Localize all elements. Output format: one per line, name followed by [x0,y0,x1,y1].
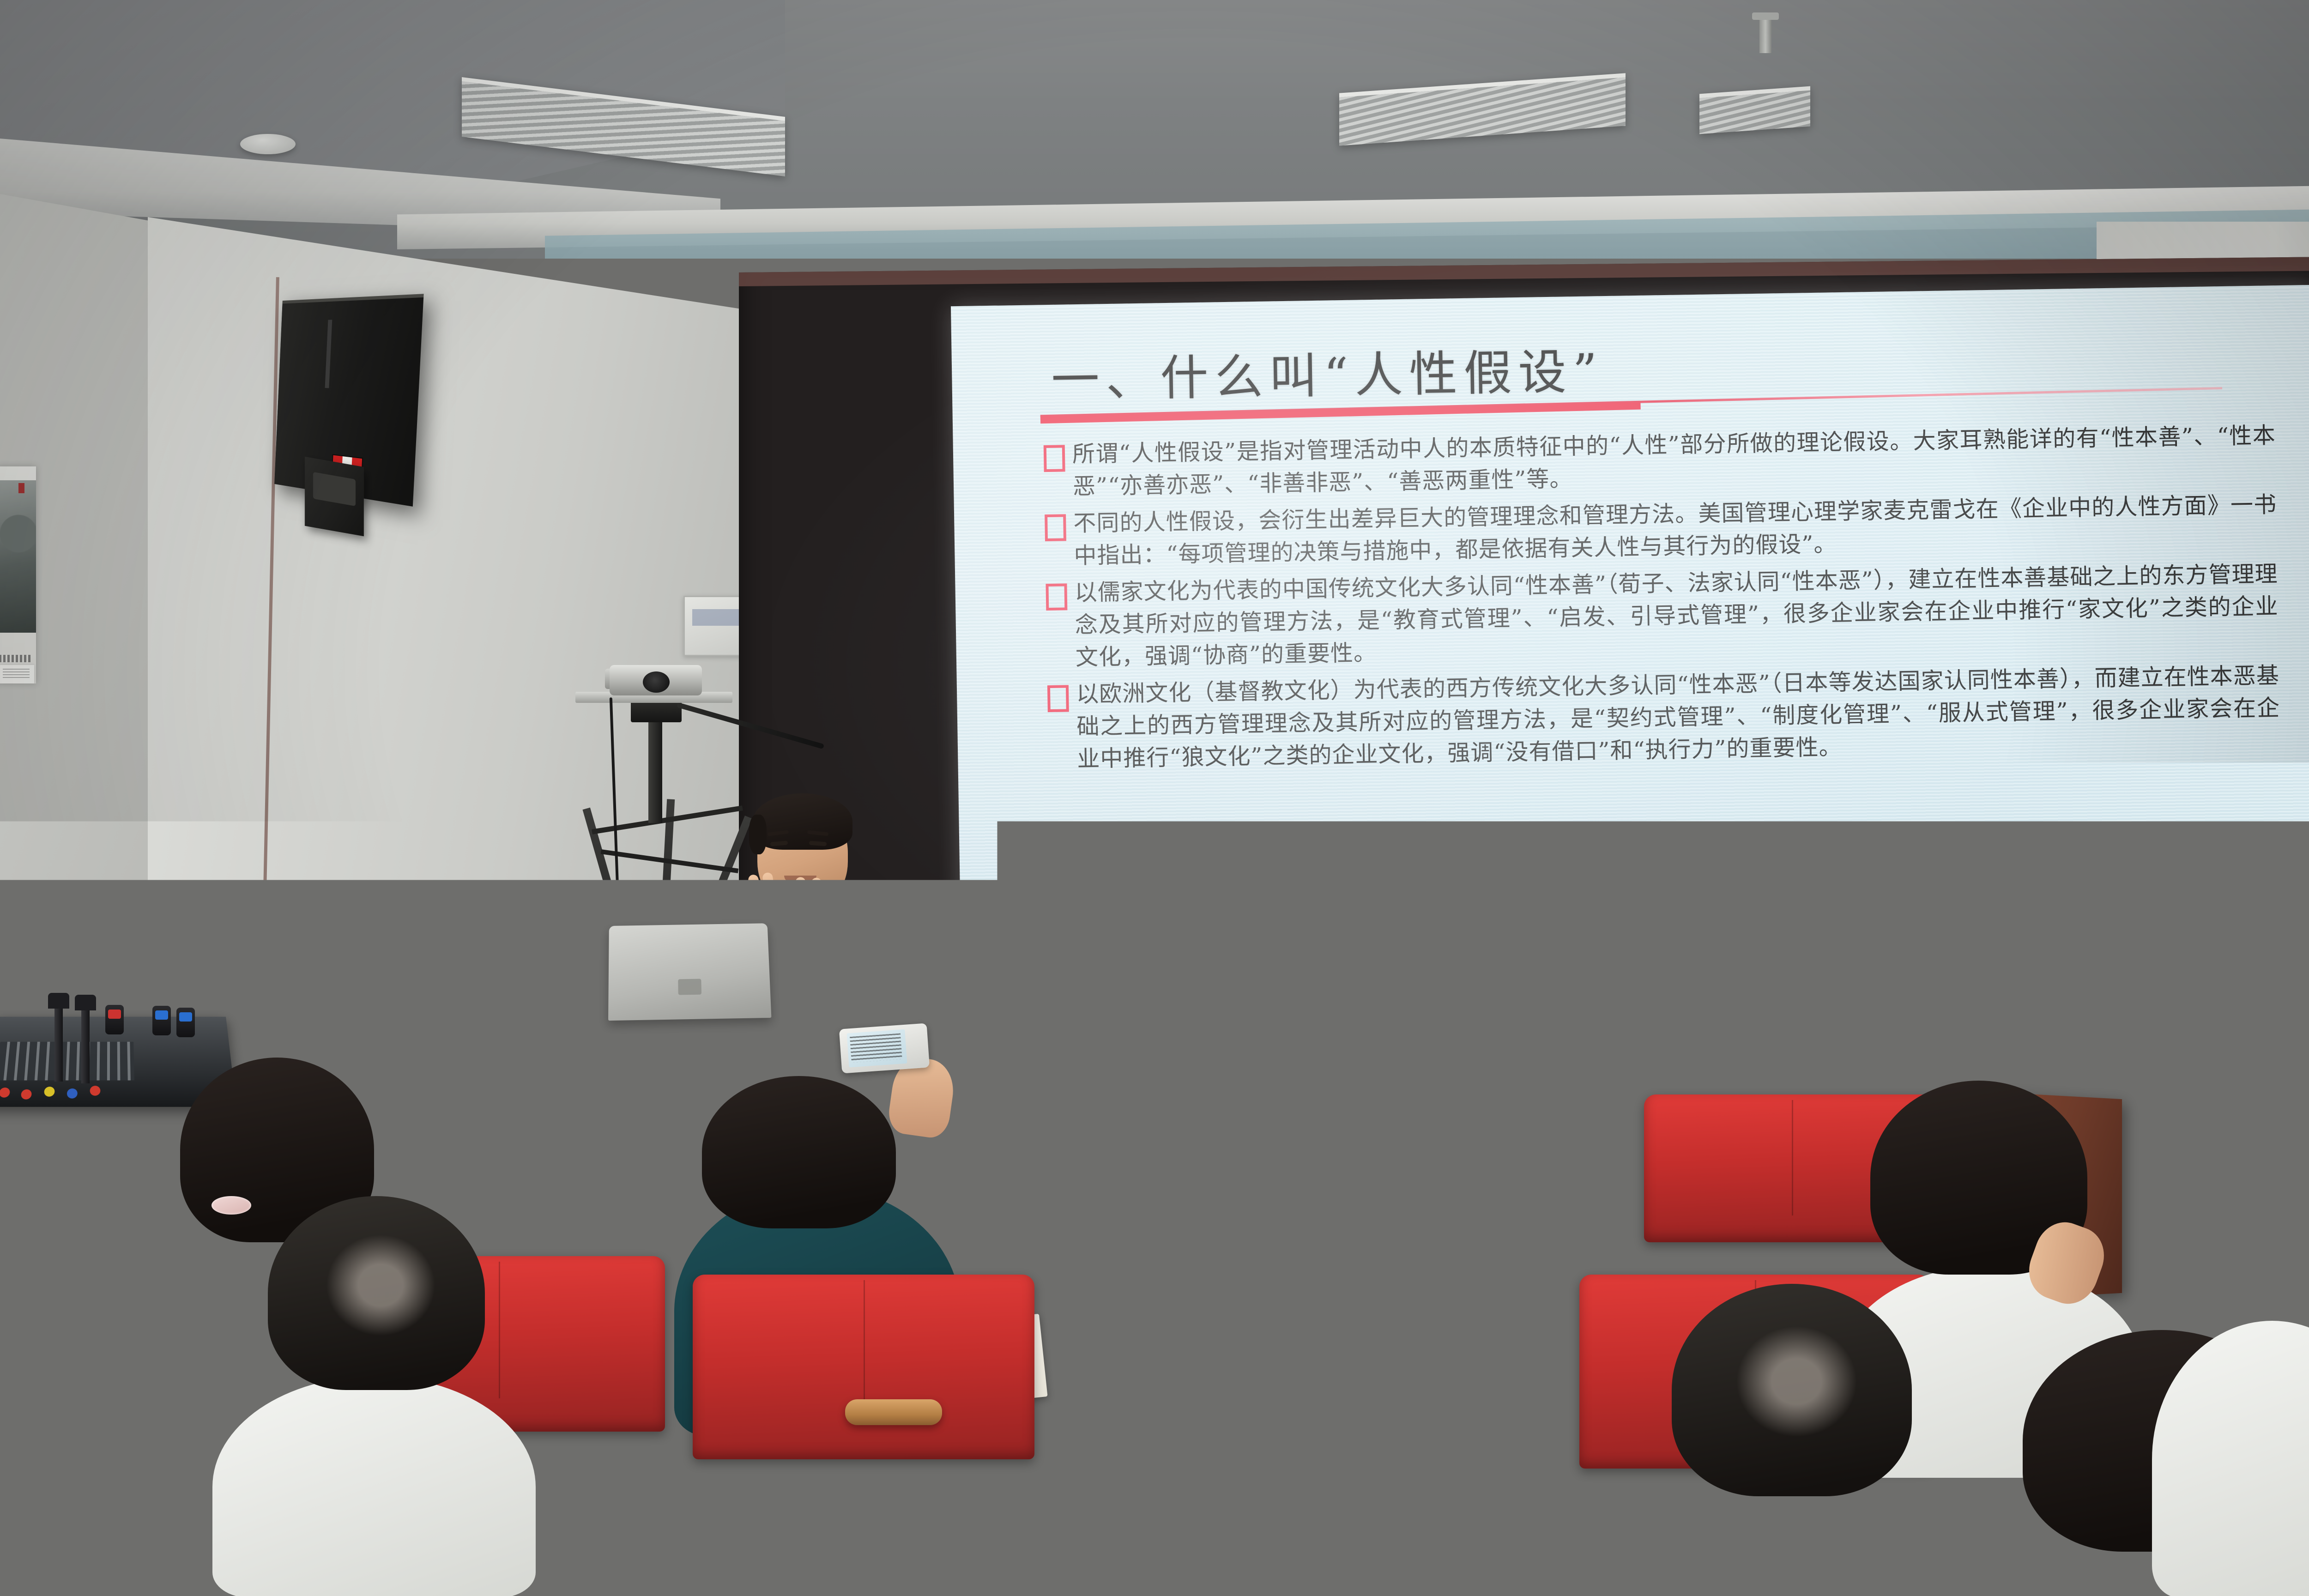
speaker-mount-bracket [305,457,364,537]
bullet-square-icon [1045,514,1066,541]
laptop[interactable] [608,923,771,1021]
bullet-square-icon [1046,583,1067,611]
audience-hair [702,1076,896,1228]
phone-camera[interactable] [839,1023,930,1073]
audience-shoulders [2152,1321,2309,1596]
audience-member [2134,1182,2309,1596]
ceiling-vent-icon [1699,86,1810,134]
laptop-logo [678,979,701,995]
phone-screen [847,1029,907,1068]
bullet-text: 所谓“人性假设”是指对管理活动中人的本质特征中的“人性”部分所做的理论假设。大家… [1072,419,2277,503]
slide-bullet-list: 所谓“人性假设”是指对管理活动中人的本质特征中的“人性”部分所做的理论假设。大家… [953,419,2309,782]
slide-title: 一、什么叫“人性假设” [1051,332,1604,411]
presenter-hair [753,793,852,850]
seat[interactable] [693,1275,1034,1459]
seat-armrest[interactable] [845,1399,942,1425]
seat-armrest[interactable] [1108,1427,1205,1453]
paper-cup [406,1060,450,1105]
audience-hair [268,1196,485,1390]
tripod-column [648,707,662,823]
microphone-stand [81,1005,90,1083]
list-item: 以儒家文化为代表的中国传统文化大多认同“性本善”（荀子、法家认同“性本恶”），建… [955,557,2309,676]
poster-caption [0,655,32,662]
seat[interactable] [1201,1284,1552,1478]
bullet-text: 以儒家文化为代表的中国传统文化大多认同“性本善”（荀子、法家认同“性本恶”），建… [1074,558,2279,674]
slide-footer-rule [1060,937,2233,965]
lecture-hall-photo: 一、什么叫“人性假设” 所谓“人性假设”是指对管理活动中人的本质特征中的“人性”… [0,0,2309,1596]
bullet-text: 不同的人性假设，会衍生出差异巨大的管理理念和管理方法。美国管理心理学家麦克雷戈在… [1073,489,2278,572]
list-item: 以欧洲文化（基督教文化）为代表的西方传统文化大多认同“性本恶”（日本等发达国家认… [957,659,2309,777]
microphone-clip [396,1023,415,1053]
poster-accent [18,483,24,493]
bullet-square-icon [1047,685,1069,712]
projected-slide: 一、什么叫“人性假设” 所谓“人性假设”是指对管理活动中人的本质特征中的“人性”… [951,285,2309,1082]
wall-poster [0,466,36,683]
bullet-text: 以欧洲文化（基督教文化）为代表的西方传统文化大多认同“性本恶”（日本等发达国家认… [1076,659,2281,775]
speaker-port [325,320,332,388]
sprinkler-head-icon [1759,16,1771,53]
microphone-clip [105,1005,124,1034]
microphone-stand [54,1003,63,1082]
seat[interactable] [1321,1099,1616,1247]
mixer-faders[interactable] [0,1042,134,1081]
camera-lens-icon [643,671,670,693]
bullet-square-icon [1044,445,1065,472]
microphone-clip [152,1006,171,1035]
microphone-clip [176,1008,195,1037]
audience-member [443,1469,702,1596]
microphone-clip [319,1022,337,1051]
audience-member [1616,1247,1967,1596]
poster-image [0,480,36,633]
audience-shoulders [443,1469,693,1596]
poster-subcard [0,665,34,683]
ceiling-light-icon [240,134,296,154]
audience-hair [1672,1284,1912,1496]
